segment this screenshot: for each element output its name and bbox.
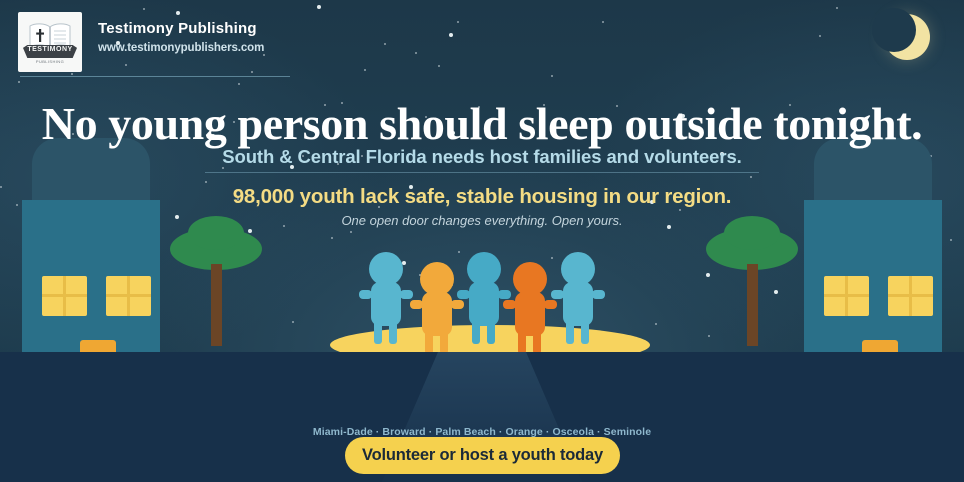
- youth-figure-3-legr: [487, 322, 495, 344]
- star: [774, 290, 778, 294]
- youth-figure-1-torso: [371, 282, 401, 326]
- youth-figure-1-legr: [389, 322, 397, 344]
- star: [71, 73, 73, 75]
- logo-banner-text: TESTIMONY: [23, 46, 77, 53]
- youth-figure-3-head: [467, 252, 501, 286]
- youth-figure-2-torso: [422, 292, 452, 336]
- subheadline-divider: [205, 172, 759, 173]
- subheadline: South & Central Florida needs host famil…: [0, 146, 964, 168]
- star: [602, 21, 604, 23]
- volunteer-cta-button[interactable]: Volunteer or host a youth today: [345, 437, 620, 474]
- youth-figure-5-head: [561, 252, 595, 286]
- star: [292, 321, 294, 323]
- youth-figure-2-head: [420, 262, 454, 296]
- tagline: One open door changes everything. Open y…: [0, 213, 964, 228]
- tree-right-trunk: [747, 264, 758, 346]
- youth-figure-5-armr: [592, 290, 605, 299]
- statistic-line: 98,000 youth lack safe, stable housing i…: [0, 185, 964, 209]
- star: [415, 52, 417, 54]
- youth-figure-3-armr: [498, 290, 511, 299]
- star: [205, 181, 207, 183]
- youth-figure-4-armr: [544, 300, 557, 309]
- youth-figure-2-legr: [440, 332, 448, 354]
- star: [706, 273, 710, 277]
- youth-figure-1-arml: [359, 290, 372, 299]
- star: [438, 65, 440, 67]
- star: [18, 81, 20, 83]
- logo-banner: TESTIMONY: [23, 45, 77, 58]
- star: [819, 35, 821, 37]
- brand-name: Testimony Publishing: [98, 20, 264, 38]
- youth-figure-5-arml: [551, 290, 564, 299]
- brand-header: TESTIMONY PUBLISHING Testimony Publishin…: [18, 12, 264, 72]
- star: [350, 231, 352, 233]
- star: [551, 75, 553, 77]
- youth-figure-3-torso: [469, 282, 499, 326]
- youth-figure-3-arml: [457, 290, 470, 299]
- youth-figure-1-legl: [374, 322, 382, 344]
- star: [950, 239, 952, 241]
- house-right-window-1: [824, 276, 869, 316]
- tree-left-trunk: [211, 264, 222, 346]
- youth-figure-5-legl: [566, 322, 574, 344]
- star: [331, 237, 333, 239]
- brand-text: Testimony Publishing www.testimonypublis…: [98, 12, 264, 54]
- star: [364, 69, 366, 71]
- logo-sub-text: PUBLISHING: [30, 59, 70, 64]
- youth-figure-2-arml: [410, 300, 423, 309]
- youth-figure-1-head: [369, 252, 403, 286]
- youth-figure-3-legl: [472, 322, 480, 344]
- poster-canvas: TESTIMONY PUBLISHING Testimony Publishin…: [0, 0, 964, 482]
- star: [655, 323, 657, 325]
- star: [458, 251, 460, 253]
- youth-figure-2-legl: [425, 332, 433, 354]
- star: [551, 257, 553, 259]
- star: [248, 229, 252, 233]
- star: [317, 5, 321, 9]
- youth-figure-4-arml: [503, 300, 516, 309]
- star: [384, 43, 386, 45]
- youth-figure-1-armr: [400, 290, 413, 299]
- youth-figure-2-armr: [451, 300, 464, 309]
- star: [449, 33, 453, 37]
- house-left-window-1: [42, 276, 87, 316]
- header-divider: [20, 76, 290, 77]
- headline: No young person should sleep outside ton…: [0, 97, 964, 150]
- youth-figure-4-legr: [533, 332, 541, 354]
- brand-url[interactable]: www.testimonypublishers.com: [98, 42, 264, 54]
- star: [238, 83, 240, 85]
- youth-figure-5-torso: [563, 282, 593, 326]
- logo: TESTIMONY PUBLISHING: [18, 12, 82, 72]
- house-right-window-2: [888, 276, 933, 316]
- star: [708, 335, 710, 337]
- star: [836, 7, 838, 9]
- star: [750, 176, 752, 178]
- star: [679, 209, 681, 211]
- youth-figure-4-legl: [518, 332, 526, 354]
- house-left-window-2: [106, 276, 151, 316]
- youth-figure-4-head: [513, 262, 547, 296]
- star: [457, 21, 459, 23]
- star: [143, 8, 145, 10]
- crescent-moon-icon: [884, 14, 930, 60]
- youth-figure-4-torso: [515, 292, 545, 336]
- youth-figure-5-legr: [581, 322, 589, 344]
